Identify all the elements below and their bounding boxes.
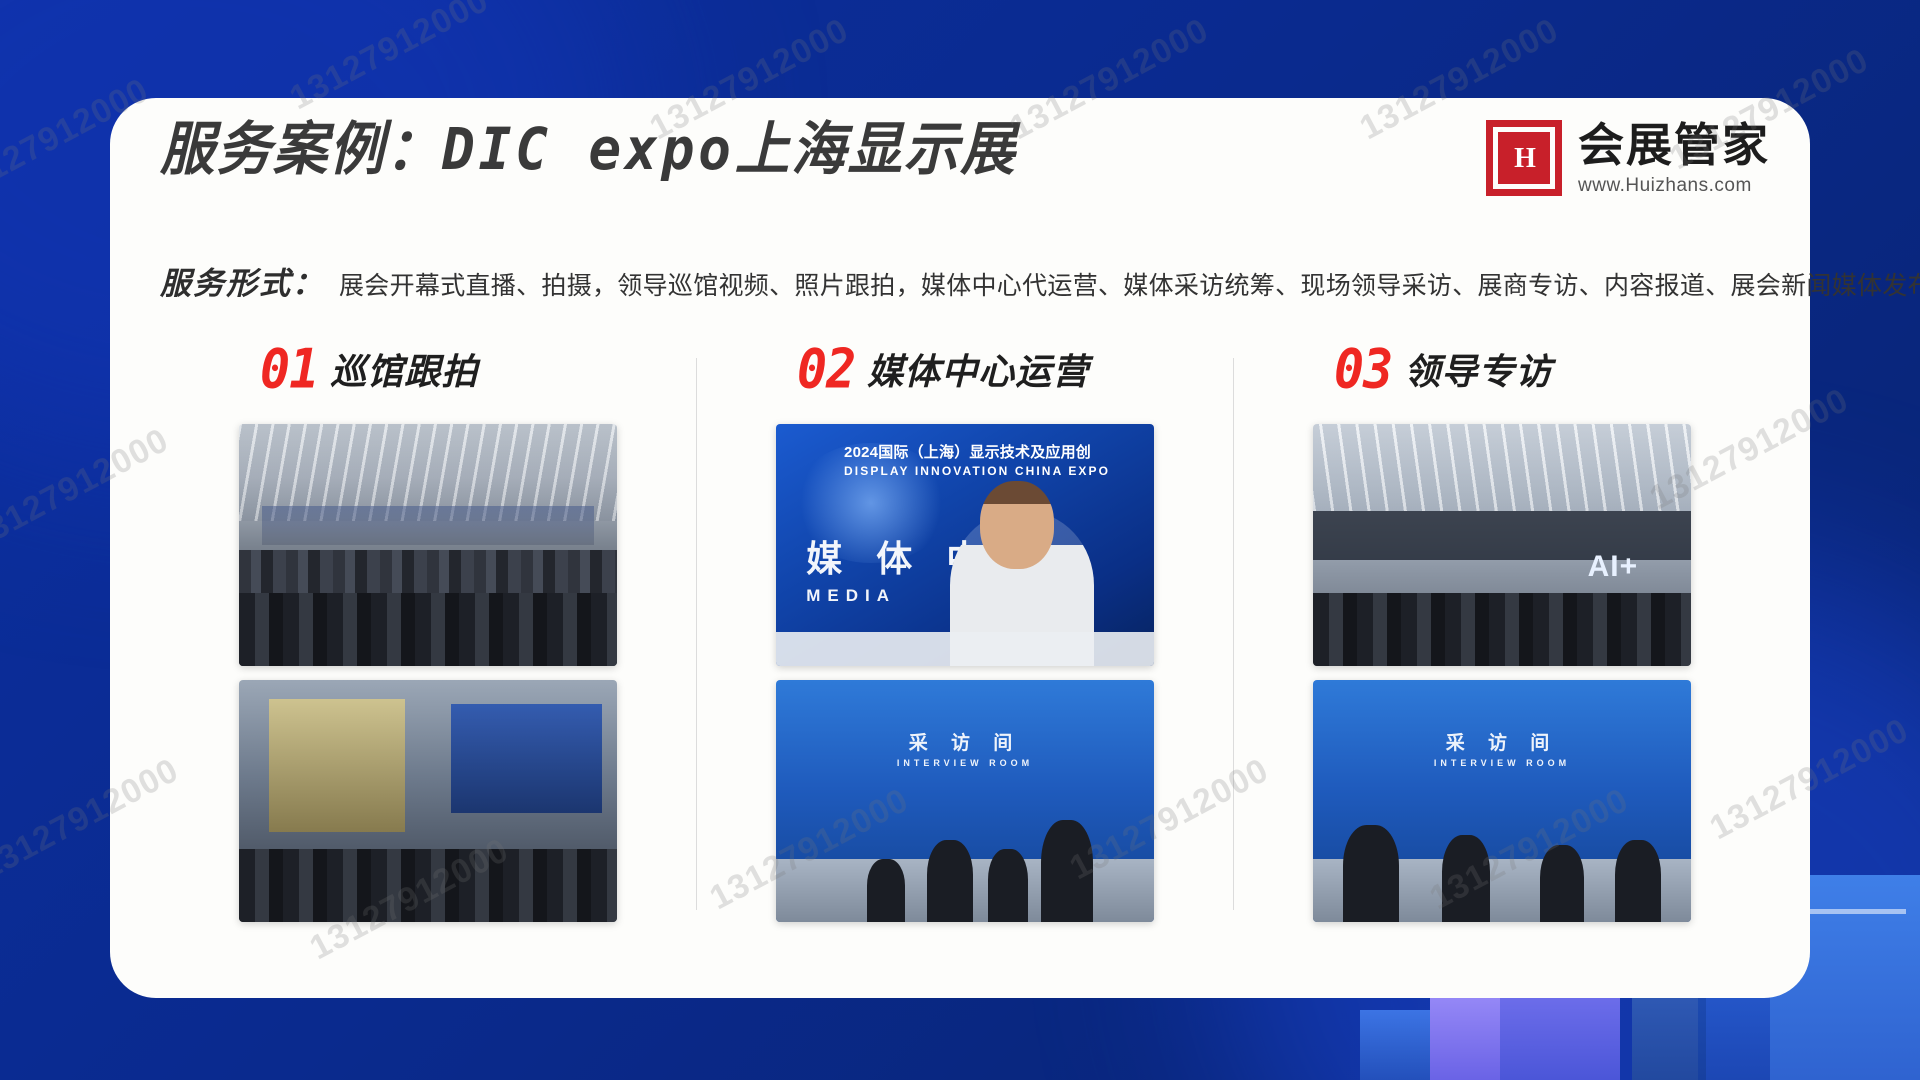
logo-mark-icon: H [1486, 120, 1562, 196]
service-form-label: 服务形式： [160, 258, 325, 303]
section-column-01: 01 巡馆跟拍 [160, 340, 696, 940]
brand-url: www.Huizhans.com [1578, 176, 1770, 195]
photo-exhibition-hall-crowd[interactable] [239, 424, 617, 666]
section-header-03: 03 领导专访 [1256, 340, 1748, 398]
section-title-03: 领导专访 [1404, 343, 1552, 395]
section-photos-01 [182, 424, 674, 922]
section-photos-03: AI+ 采 访 间 INTERVIEW ROOM [1256, 424, 1748, 922]
interview-room-sign-cn: 采 访 间 [1313, 728, 1691, 755]
section-title-02: 媒体中心运营 [867, 343, 1089, 395]
page-title-brand: DIC expo [442, 115, 735, 183]
service-form-line: 服务形式： 展会开幕式直播、拍摄，领导巡馆视频、照片跟拍，媒体中心代运营、媒体采… [160, 258, 1920, 303]
page-title-prefix: 服务案例： [160, 115, 442, 183]
section-number-03: 03 [1334, 338, 1392, 401]
backdrop-headline-en: DISPLAY INNOVATION CHINA EXPO [844, 464, 1146, 478]
interview-room-sign-en: INTERVIEW ROOM [776, 758, 1154, 768]
page-title: 服务案例：DIC expo上海显示展 [160, 118, 1017, 180]
photo-interview-room-setup[interactable]: 采 访 间 INTERVIEW ROOM [776, 680, 1154, 922]
page-title-suffix: 上海显示展 [735, 115, 1017, 183]
section-number-01: 01 [260, 338, 318, 401]
section-photos-02: 2024国际（上海）显示技术及应用创 DISPLAY INNOVATION CH… [719, 424, 1211, 922]
photo-media-center-backdrop[interactable]: 2024国际（上海）显示技术及应用创 DISPLAY INNOVATION CH… [776, 424, 1154, 666]
backdrop-headline-cn: 2024国际（上海）显示技术及应用创 [844, 441, 1146, 462]
section-column-02: 02 媒体中心运营 2024国际（上海）显示技术及应用创 DISPLAY INN… [697, 340, 1233, 940]
brand-name-cn: 会展管家 [1578, 122, 1770, 168]
interview-room-sign-en: INTERVIEW ROOM [1313, 758, 1691, 768]
logo-letter: H [1512, 144, 1538, 174]
section-title-01: 巡馆跟拍 [330, 343, 478, 395]
brand-logo[interactable]: H 会展管家 www.Huizhans.com [1486, 120, 1770, 196]
section-number-02: 02 [797, 338, 855, 401]
section-header-02: 02 媒体中心运营 [719, 340, 1211, 398]
section-header-01: 01 巡馆跟拍 [182, 340, 674, 398]
section-column-03: 03 领导专访 AI+ 采 访 间 INTERVIEW ROOM [1234, 340, 1770, 940]
photo-interview-room-press[interactable]: 采 访 间 INTERVIEW ROOM [1313, 680, 1691, 922]
booth-sign-text: AI+ [1588, 550, 1639, 584]
slide-root: 服务案例：DIC expo上海显示展 H 会展管家 www.Huizhans.c… [0, 0, 1920, 1080]
photo-leader-interview-floor[interactable]: AI+ [1313, 424, 1691, 666]
photo-booth-walkthrough[interactable] [239, 680, 617, 922]
service-form-text: 展会开幕式直播、拍摄，领导巡馆视频、照片跟拍，媒体中心代运营、媒体采访统筹、现场… [339, 266, 1920, 302]
sections-container: 01 巡馆跟拍 02 媒体中心运营 [160, 340, 1770, 940]
interview-room-sign-cn: 采 访 间 [776, 728, 1154, 755]
